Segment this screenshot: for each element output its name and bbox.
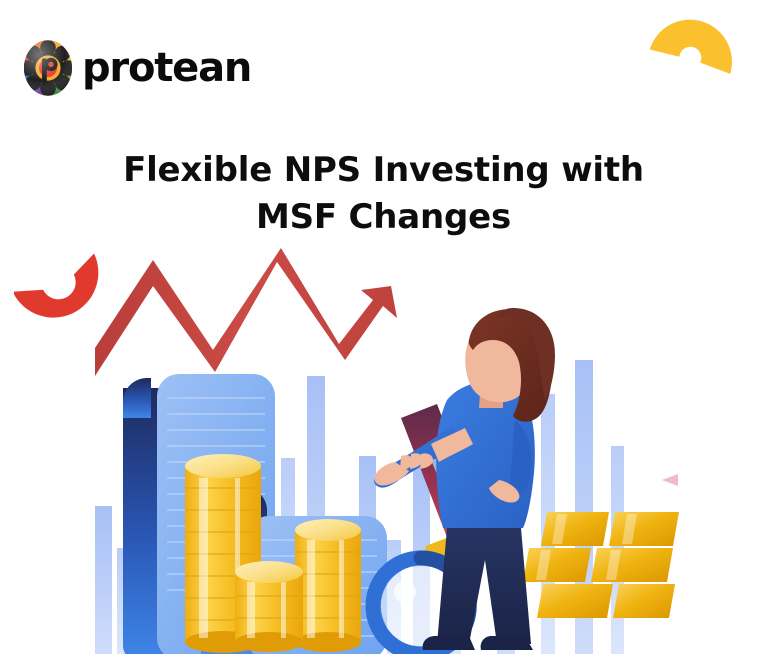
poster-canvas: protean Flexible NPS Investing with MSF … bbox=[0, 0, 767, 654]
yellow-arc-decoration bbox=[626, 4, 736, 100]
page-title: Flexible NPS Investing with MSF Changes bbox=[0, 147, 767, 241]
brand-wordmark: protean bbox=[82, 48, 251, 88]
red-trend-arrow bbox=[95, 248, 397, 376]
illustration-svg bbox=[95, 248, 695, 654]
page-title-line-2: MSF Changes bbox=[256, 197, 511, 237]
gold-bars bbox=[523, 512, 679, 618]
protean-sphere-logo-icon bbox=[18, 38, 78, 98]
page-title-line-1: Flexible NPS Investing with bbox=[123, 150, 644, 190]
brand-logo: protean bbox=[18, 38, 251, 98]
investment-growth-illustration bbox=[95, 248, 695, 654]
